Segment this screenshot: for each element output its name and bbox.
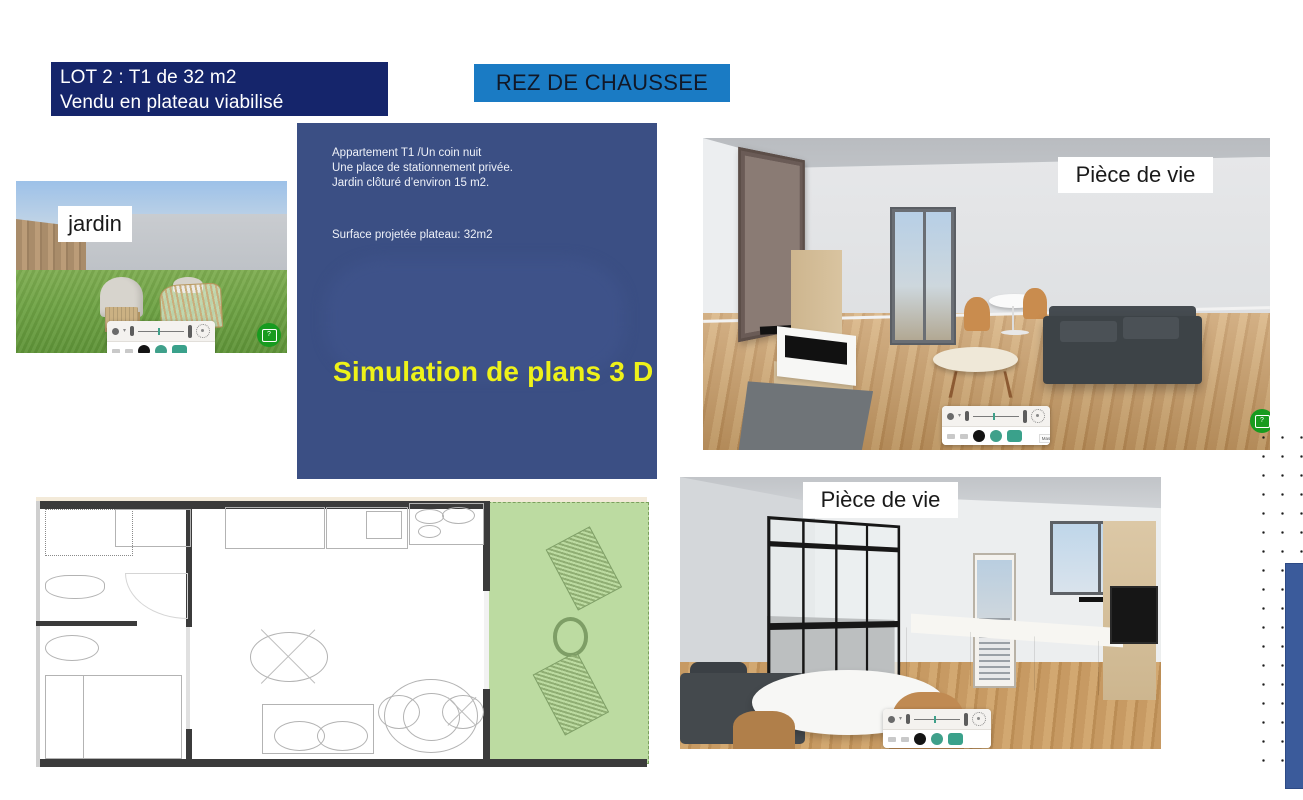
plan-wall-bottom: [36, 759, 647, 767]
garden-lounger: [546, 527, 622, 612]
toolbar-tooltip: Masquer les axes: [1039, 434, 1050, 443]
plan-round-fixture: [45, 635, 99, 661]
camera-icon[interactable]: [931, 733, 943, 745]
viewer-toolbar-row-top[interactable]: ▾: [107, 321, 215, 342]
view-2d-icon[interactable]: [112, 349, 120, 354]
plan-garden-zone: [488, 502, 649, 763]
plan-partition-stub: [186, 729, 192, 763]
info-line-2: Une place de stationnement privée.: [332, 161, 513, 176]
info-line-3: Jardin clôturé d’environ 15 m2.: [332, 176, 513, 191]
sofa-cushion: [1123, 317, 1180, 339]
verriere-glass-partition: [767, 516, 900, 690]
plan-sofa-seat: [317, 721, 368, 751]
viewer-toolbar[interactable]: ▾: [883, 709, 991, 748]
coffee-table: [933, 347, 1018, 372]
view-2d-icon[interactable]: [888, 737, 896, 742]
plan-toilet: [45, 575, 105, 599]
garden-planter: [553, 617, 588, 656]
help-badge[interactable]: ?: [257, 323, 281, 347]
render-icon[interactable]: [973, 430, 985, 442]
sun-icon[interactable]: [947, 413, 954, 420]
chevron-down-icon[interactable]: ▾: [899, 716, 902, 722]
plan-cooktop: [409, 503, 484, 545]
plan-vanity: [115, 509, 190, 547]
window-mullion: [1098, 524, 1101, 592]
patio-door: [890, 207, 956, 345]
person-large-icon: [188, 325, 192, 338]
fullscreen-icon[interactable]: [948, 733, 963, 745]
coffee-table-legs: [949, 371, 1013, 398]
kitchen-island: [737, 381, 873, 450]
sofa-cushion: [1060, 321, 1117, 343]
view-3d-icon[interactable]: [125, 349, 133, 354]
plan-wall-right-upper: [483, 501, 490, 591]
chevron-down-icon[interactable]: ▾: [958, 413, 961, 419]
lot-banner-line1: LOT 2 : T1 de 32 m2: [60, 65, 388, 90]
blue-slab-decoration: [1285, 563, 1303, 789]
person-small-icon: [906, 714, 910, 724]
sun-icon[interactable]: [888, 716, 895, 723]
lot-banner: LOT 2 : T1 de 32 m2 Vendu en plateau via…: [51, 62, 388, 116]
sun-icon[interactable]: [112, 328, 119, 335]
info-panel-surface: Surface projetée plateau: 32m2: [332, 228, 492, 243]
dining-chair: [964, 297, 990, 331]
plan-headboard: [45, 675, 84, 759]
view-3d-icon[interactable]: [960, 434, 968, 439]
view-2d-icon[interactable]: [947, 434, 955, 439]
fullscreen-icon[interactable]: [172, 345, 187, 353]
viewer-toolbar[interactable]: ▾ Masquer les axes: [942, 406, 1050, 445]
view-3d-icon[interactable]: [901, 737, 909, 742]
compass-icon[interactable]: [972, 712, 986, 726]
plan-partition-horizontal: [36, 621, 137, 626]
built-in-oven: [1110, 586, 1157, 644]
viewer-toolbar-row-bottom[interactable]: Masquer les axes: [942, 427, 1050, 445]
camera-icon[interactable]: [155, 345, 167, 353]
dining-chair: [1023, 288, 1047, 319]
lot-banner-line2: Vendu en plateau viabilisé: [60, 90, 388, 115]
living-room-bottom-caption: Pièce de vie: [803, 482, 958, 518]
camera-icon[interactable]: [990, 430, 1002, 442]
dining-chair: [733, 711, 796, 749]
plan-patio-door-opening: [484, 591, 489, 689]
garden-3d-image[interactable]: ▾ ?: [16, 181, 287, 353]
plan-light-cross: [250, 632, 326, 680]
plan-wall-left: [36, 501, 40, 767]
info-line-1: Appartement T1 /Un coin nuit: [332, 146, 513, 161]
plan-dining-chair: [378, 695, 420, 729]
viewer-toolbar-row-top[interactable]: ▾: [942, 406, 1050, 427]
viewer-toolbar-row-top[interactable]: ▾: [883, 709, 991, 730]
chevron-down-icon[interactable]: ▾: [123, 328, 126, 334]
viewer-toolbar-row-bottom[interactable]: [107, 342, 215, 353]
compass-icon[interactable]: [196, 324, 210, 338]
plan-kitchen-unit: [225, 507, 325, 549]
living-room-top-caption: Pièce de vie: [1058, 157, 1213, 193]
plan-wall-right-lower: [483, 689, 490, 763]
simulation-title: Simulation de plans 3 D: [333, 356, 653, 388]
person-small-icon: [130, 326, 134, 336]
floor-banner: REZ DE CHAUSSEE: [474, 64, 730, 102]
render-icon[interactable]: [914, 733, 926, 745]
info-panel: Appartement T1 /Un coin nuit Une place d…: [297, 123, 657, 479]
help-badge[interactable]: ?: [1250, 409, 1270, 433]
compass-icon[interactable]: [1031, 409, 1045, 423]
viewer-toolbar-row-bottom[interactable]: [883, 730, 991, 748]
plan-door-swing: [125, 573, 188, 619]
dining-table-base: [1001, 330, 1029, 335]
door-mullion: [923, 212, 926, 340]
help-glyph: ?: [262, 329, 277, 342]
person-large-icon: [1023, 410, 1027, 423]
dining-table-leg: [1012, 306, 1014, 331]
garden-caption: jardin: [58, 206, 132, 242]
height-slider[interactable]: [973, 416, 1019, 417]
height-slider[interactable]: [138, 331, 184, 332]
plan-partition-lower: [186, 627, 190, 732]
viewer-toolbar[interactable]: ▾: [107, 321, 215, 353]
door-glass: [977, 560, 1012, 620]
info-panel-description: Appartement T1 /Un coin nuit Une place d…: [332, 146, 513, 191]
garden-lounger: [533, 651, 609, 736]
plan-chair-cross: [442, 695, 482, 727]
floorplan-image[interactable]: [36, 497, 647, 767]
fullscreen-icon[interactable]: [1007, 430, 1022, 442]
person-large-icon: [964, 713, 968, 726]
help-glyph: ?: [1255, 415, 1270, 428]
plan-sink: [366, 511, 402, 539]
person-small-icon: [965, 411, 969, 421]
render-icon[interactable]: [138, 345, 150, 353]
height-slider[interactable]: [914, 719, 960, 720]
